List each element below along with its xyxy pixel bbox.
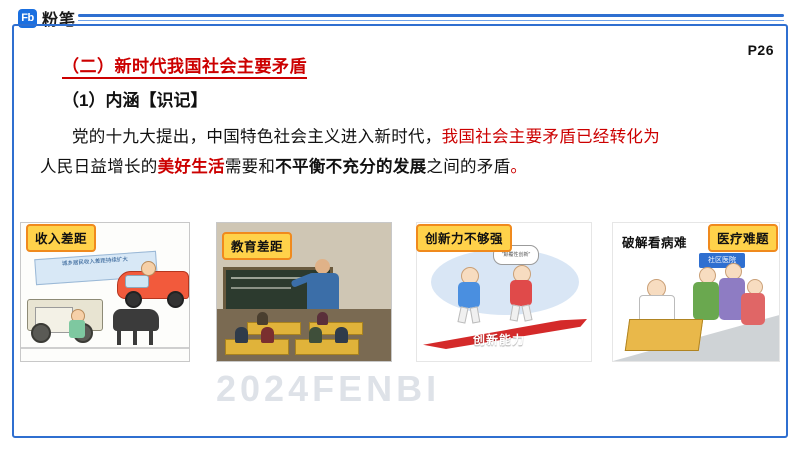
- image-card-income-gap: 城乡居民收入差距持续扩大 收入差距: [20, 222, 190, 362]
- ox-leg-1: [117, 329, 121, 345]
- image-caption-medical: 医疗难题: [708, 224, 778, 252]
- patient-body-1: [693, 282, 719, 320]
- reception-desk: [625, 319, 703, 351]
- student-front-4: [335, 327, 348, 343]
- image-inner-caption-medical: 破解看病难: [622, 232, 687, 251]
- student-back-left: [257, 312, 268, 325]
- car-window: [125, 275, 149, 288]
- chalk-line-2: [231, 287, 291, 289]
- body-text-4: 美好生活: [158, 158, 225, 176]
- watermark: 2024FENBI: [216, 368, 440, 410]
- body-text-2: 我国社会主要矛盾已经转化为: [442, 128, 660, 146]
- student-front-2: [261, 327, 274, 343]
- runner-body-blue: [458, 282, 480, 308]
- ox-body: [113, 309, 159, 331]
- image-caption-innovation: 创新力不够强: [416, 224, 512, 252]
- subsection-heading: （1）内涵【识记】: [62, 86, 207, 111]
- image-card-innovation: "颠覆性创新" 创新能力 创新力不够强: [416, 222, 592, 362]
- teacher-head: [315, 259, 330, 274]
- desk-row-back-left: [247, 322, 301, 335]
- student-back-right: [317, 312, 328, 325]
- body-paragraph: 党的十九大提出，中国特色社会主义进入新时代，我国社会主要矛盾已经转化为 人民日益…: [40, 122, 740, 182]
- desk-row-front-right: [295, 339, 359, 355]
- child-body: [69, 320, 85, 338]
- runner-body-red: [510, 280, 532, 306]
- body-text-1: 党的十九大提出，中国特色社会主义进入新时代，: [72, 128, 442, 146]
- image-card-education-gap: 教育差距: [216, 222, 392, 362]
- image-card-medical: 社区医院 破解看病难 医疗难题: [612, 222, 780, 362]
- arrow-label: 创新能力: [473, 331, 525, 348]
- section-heading: （二）新时代我国社会主要矛盾: [62, 52, 307, 77]
- ox-leg-3: [149, 329, 153, 345]
- body-text-7: 之间的矛盾: [426, 158, 510, 176]
- image-caption-education-gap: 教育差距: [222, 232, 292, 260]
- body-text-6: 不平衡不充分的发展: [275, 158, 426, 176]
- image-strip: 城乡居民收入差距持续扩大 收入差距: [20, 222, 780, 370]
- ox-leg-2: [133, 329, 137, 345]
- driver-head: [141, 261, 156, 276]
- car-wheel-front: [125, 291, 142, 308]
- page-number: P26: [748, 42, 774, 58]
- header-rule-thin: [78, 20, 784, 21]
- cart-wheel-left: [31, 323, 51, 343]
- patient-body-3: [741, 293, 765, 325]
- ground-line: [21, 347, 189, 349]
- header-rule: [78, 14, 784, 17]
- car-wheel-rear: [167, 291, 184, 308]
- section-heading-text: （二）新时代我国社会主要矛盾: [62, 57, 307, 79]
- student-front-1: [235, 327, 248, 343]
- body-text-3: 人民日益增长的: [40, 158, 158, 176]
- student-front-3: [309, 327, 322, 343]
- body-text-8: 。: [510, 158, 527, 176]
- image-caption-income-gap: 收入差距: [26, 224, 96, 252]
- body-text-5: 需要和: [225, 158, 275, 176]
